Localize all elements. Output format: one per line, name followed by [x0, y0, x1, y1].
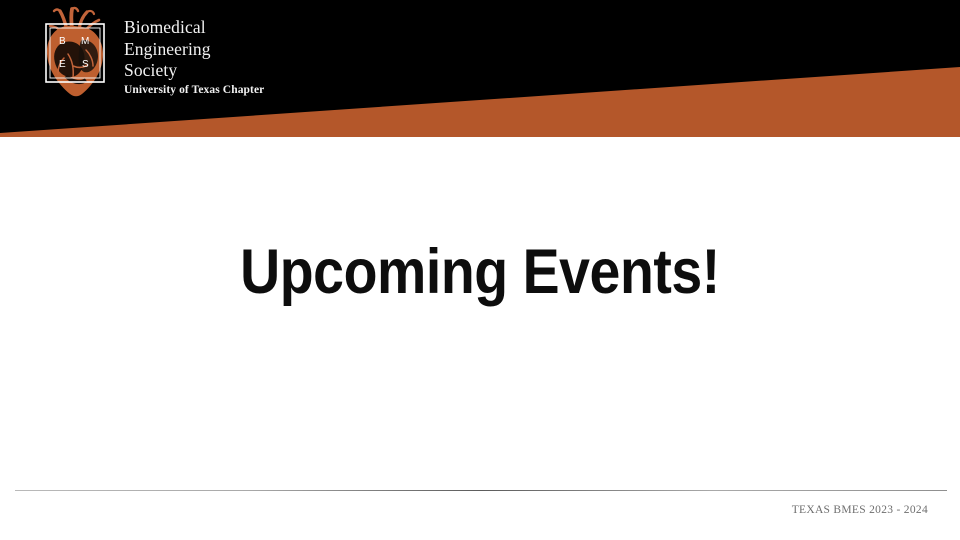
logo-letter-m: M — [81, 36, 89, 47]
footer-divider — [15, 490, 947, 491]
footer-text: TEXAS BMES 2023 - 2024 — [792, 503, 928, 518]
logo-org-line-1: Biomedical — [124, 17, 264, 39]
logo-chapter-line: University of Texas Chapter — [124, 83, 264, 97]
bmes-heart-logo-icon: B M E S — [36, 6, 112, 102]
logo-letter-e: E — [59, 59, 66, 70]
page-title: Upcoming Events! — [58, 236, 903, 308]
bmes-logo-lockup: B M E S Biomedical Engineering Society U… — [36, 6, 264, 102]
logo-wordmark: Biomedical Engineering Society Universit… — [124, 6, 264, 97]
logo-letter-s: S — [82, 59, 89, 70]
slide: B M E S Biomedical Engineering Society U… — [0, 0, 960, 540]
logo-org-line-3: Society — [124, 60, 264, 82]
logo-org-line-2: Engineering — [124, 39, 264, 61]
logo-letter-b: B — [59, 36, 66, 47]
